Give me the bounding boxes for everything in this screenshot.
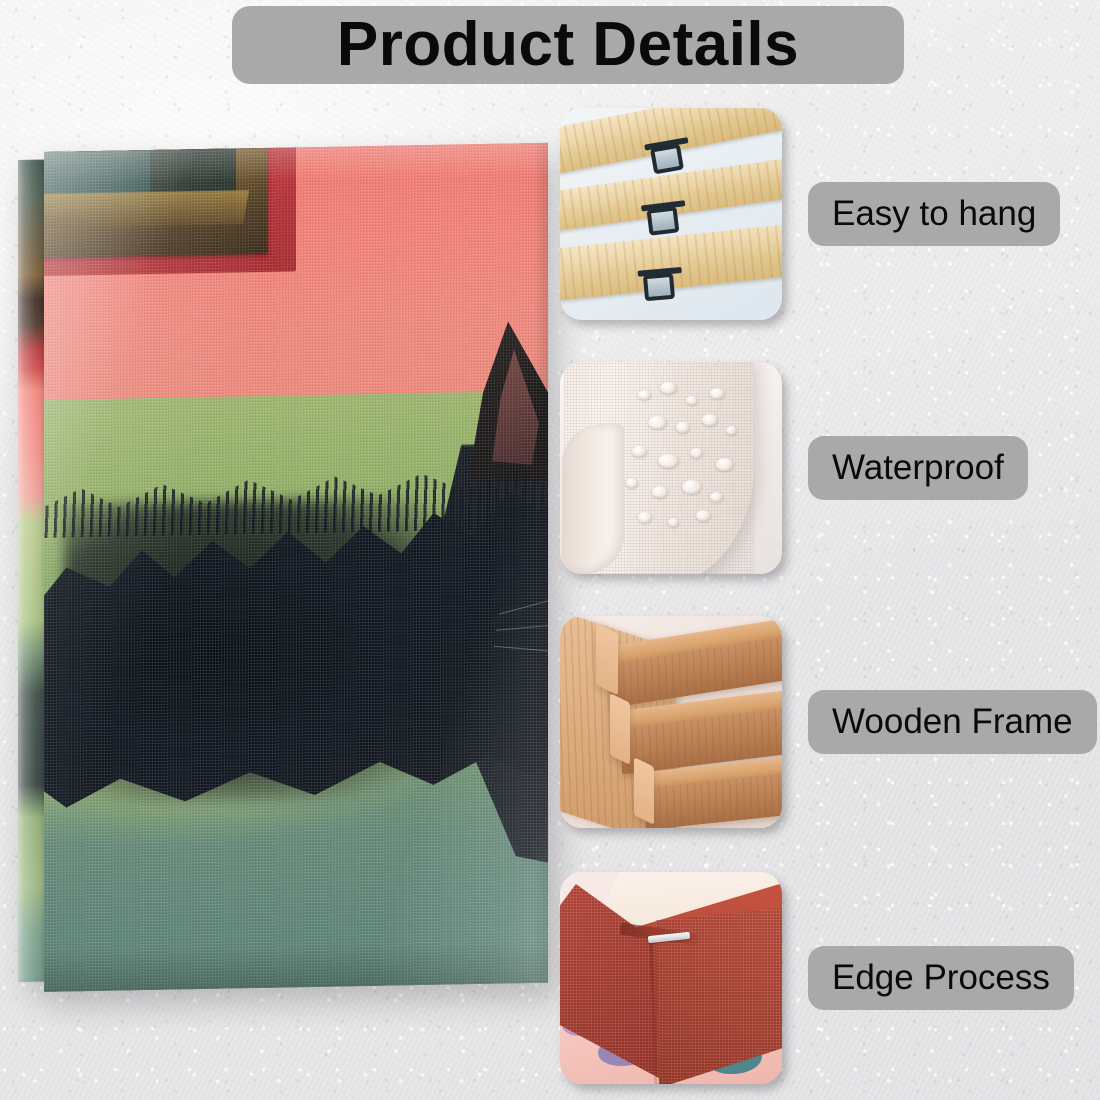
artwork-frame-bevel bbox=[44, 190, 249, 228]
product-details-infographic: Product Details bbox=[0, 0, 1100, 1100]
feature-row-easy-to-hang: Easy to hang bbox=[560, 108, 1088, 320]
water-drop-icon bbox=[710, 388, 725, 399]
water-drop-icon bbox=[726, 426, 737, 435]
water-drop-icon bbox=[690, 448, 703, 458]
water-drop-icon bbox=[632, 446, 647, 457]
sawtooth-hanger-icon bbox=[650, 144, 684, 175]
water-drop-icon bbox=[658, 454, 679, 468]
artwork-teal-shadow bbox=[44, 773, 548, 992]
page-title-pill: Product Details bbox=[232, 6, 904, 84]
artwork-picture-frame bbox=[44, 143, 268, 258]
feature-label-pill-edge-process: Edge Process bbox=[808, 946, 1074, 1009]
thumb-wooden-frame bbox=[560, 616, 782, 828]
page-title: Product Details bbox=[337, 14, 799, 76]
thumb-edge-process bbox=[560, 872, 782, 1084]
canvas-curl-icon bbox=[562, 424, 624, 574]
wood-plank-end-icon bbox=[596, 623, 618, 696]
wood-plank-end-icon bbox=[610, 693, 630, 765]
water-drop-icon bbox=[652, 486, 668, 498]
feature-label: Wooden Frame bbox=[832, 703, 1073, 740]
water-drop-icon bbox=[668, 518, 679, 527]
feature-label-pill-wooden-frame: Wooden Frame bbox=[808, 690, 1097, 753]
feature-row-edge-process: Edge Process bbox=[560, 872, 1088, 1084]
feature-row-waterproof: Waterproof bbox=[560, 362, 1088, 574]
water-drop-icon bbox=[676, 422, 690, 433]
water-drop-icon bbox=[686, 396, 698, 405]
sawtooth-hanger-icon bbox=[643, 273, 675, 302]
water-drop-icon bbox=[716, 458, 734, 471]
canvas-product-image bbox=[18, 152, 548, 992]
thumb-waterproof bbox=[560, 362, 782, 574]
water-drop-icon bbox=[638, 512, 652, 523]
feature-label-pill-waterproof: Waterproof bbox=[808, 436, 1028, 499]
water-drop-icon bbox=[710, 492, 723, 502]
thumb-easy-to-hang bbox=[560, 108, 782, 320]
feature-label: Waterproof bbox=[832, 449, 1004, 486]
water-drop-icon bbox=[702, 414, 718, 426]
feature-label: Easy to hang bbox=[832, 195, 1036, 232]
feature-label-pill-easy-to-hang: Easy to hang bbox=[808, 182, 1060, 245]
water-drop-icon bbox=[682, 480, 702, 494]
feature-row-wooden-frame: Wooden Frame bbox=[560, 616, 1088, 828]
feature-label: Edge Process bbox=[832, 959, 1050, 996]
water-drop-icon bbox=[648, 416, 667, 429]
wood-plank-end-icon bbox=[634, 757, 654, 825]
water-drop-icon bbox=[696, 510, 711, 521]
canvas-printed-face bbox=[44, 143, 548, 992]
water-drop-icon bbox=[626, 478, 638, 488]
water-drop-icon bbox=[660, 382, 677, 394]
water-drop-icon bbox=[638, 390, 651, 400]
sawtooth-hanger-icon bbox=[647, 206, 680, 235]
